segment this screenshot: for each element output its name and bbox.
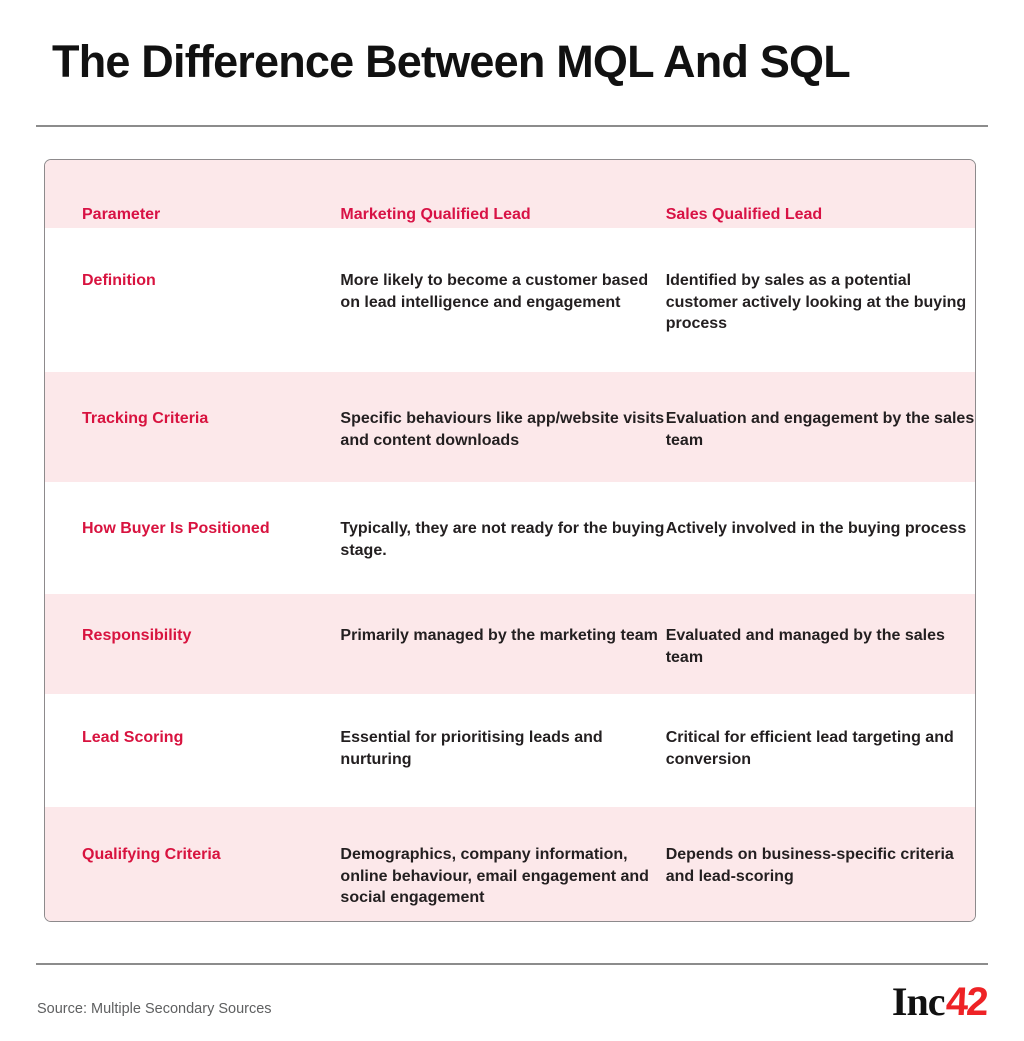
divider-bottom [36,963,988,965]
comparison-table: Parameter Marketing Qualified Lead Sales… [44,159,976,922]
row-sql-value: Depends on business-specific criteria an… [666,807,975,887]
row-mql-value: More likely to become a customer based o… [340,228,665,313]
row-parameter-label: Definition [45,228,340,291]
column-header-mql: Marketing Qualified Lead [340,163,665,225]
table-row: Definition More likely to become a custo… [45,228,975,372]
row-parameter-label: Qualifying Criteria [45,807,340,865]
table-row: Responsibility Primarily managed by the … [45,594,975,694]
source-attribution: Source: Multiple Secondary Sources [37,999,272,1019]
row-mql-value: Typically, they are not ready for the bu… [340,482,665,561]
table-row: Lead Scoring Essential for prioritising … [45,694,975,807]
table-row: Qualifying Criteria Demographics, compan… [45,807,975,921]
row-parameter-label: Tracking Criteria [45,372,340,429]
inc42-logo: Inc42 [892,980,986,1024]
row-sql-value: Identified by sales as a potential custo… [666,228,975,335]
row-sql-value: Critical for efficient lead targeting an… [666,694,975,770]
row-mql-value: Essential for prioritising leads and nur… [340,694,665,770]
page-title: The Difference Between MQL And SQL [52,34,982,90]
title-container: The Difference Between MQL And SQL [52,34,982,90]
row-parameter-label: How Buyer Is Positioned [45,482,340,539]
logo-text-inc: Inc [892,980,945,1024]
table-row: Tracking Criteria Specific behaviours li… [45,372,975,482]
column-header-parameter: Parameter [45,163,340,225]
column-header-sql: Sales Qualified Lead [666,163,975,225]
table-header-row: Parameter Marketing Qualified Lead Sales… [45,160,975,228]
row-parameter-label: Lead Scoring [45,694,340,748]
row-mql-value: Specific behaviours like app/website vis… [340,372,665,451]
row-sql-value: Actively involved in the buying process [666,482,975,540]
logo-text-42: 42 [944,980,987,1024]
row-mql-value: Primarily managed by the marketing team [340,594,665,647]
row-mql-value: Demographics, company information, onlin… [340,807,665,909]
row-sql-value: Evaluated and managed by the sales team [666,594,975,668]
divider-top [36,125,988,127]
row-sql-value: Evaluation and engagement by the sales t… [666,372,975,451]
table-row: How Buyer Is Positioned Typically, they … [45,482,975,594]
infographic-page: The Difference Between MQL And SQL Param… [0,0,1024,1041]
row-parameter-label: Responsibility [45,594,340,646]
